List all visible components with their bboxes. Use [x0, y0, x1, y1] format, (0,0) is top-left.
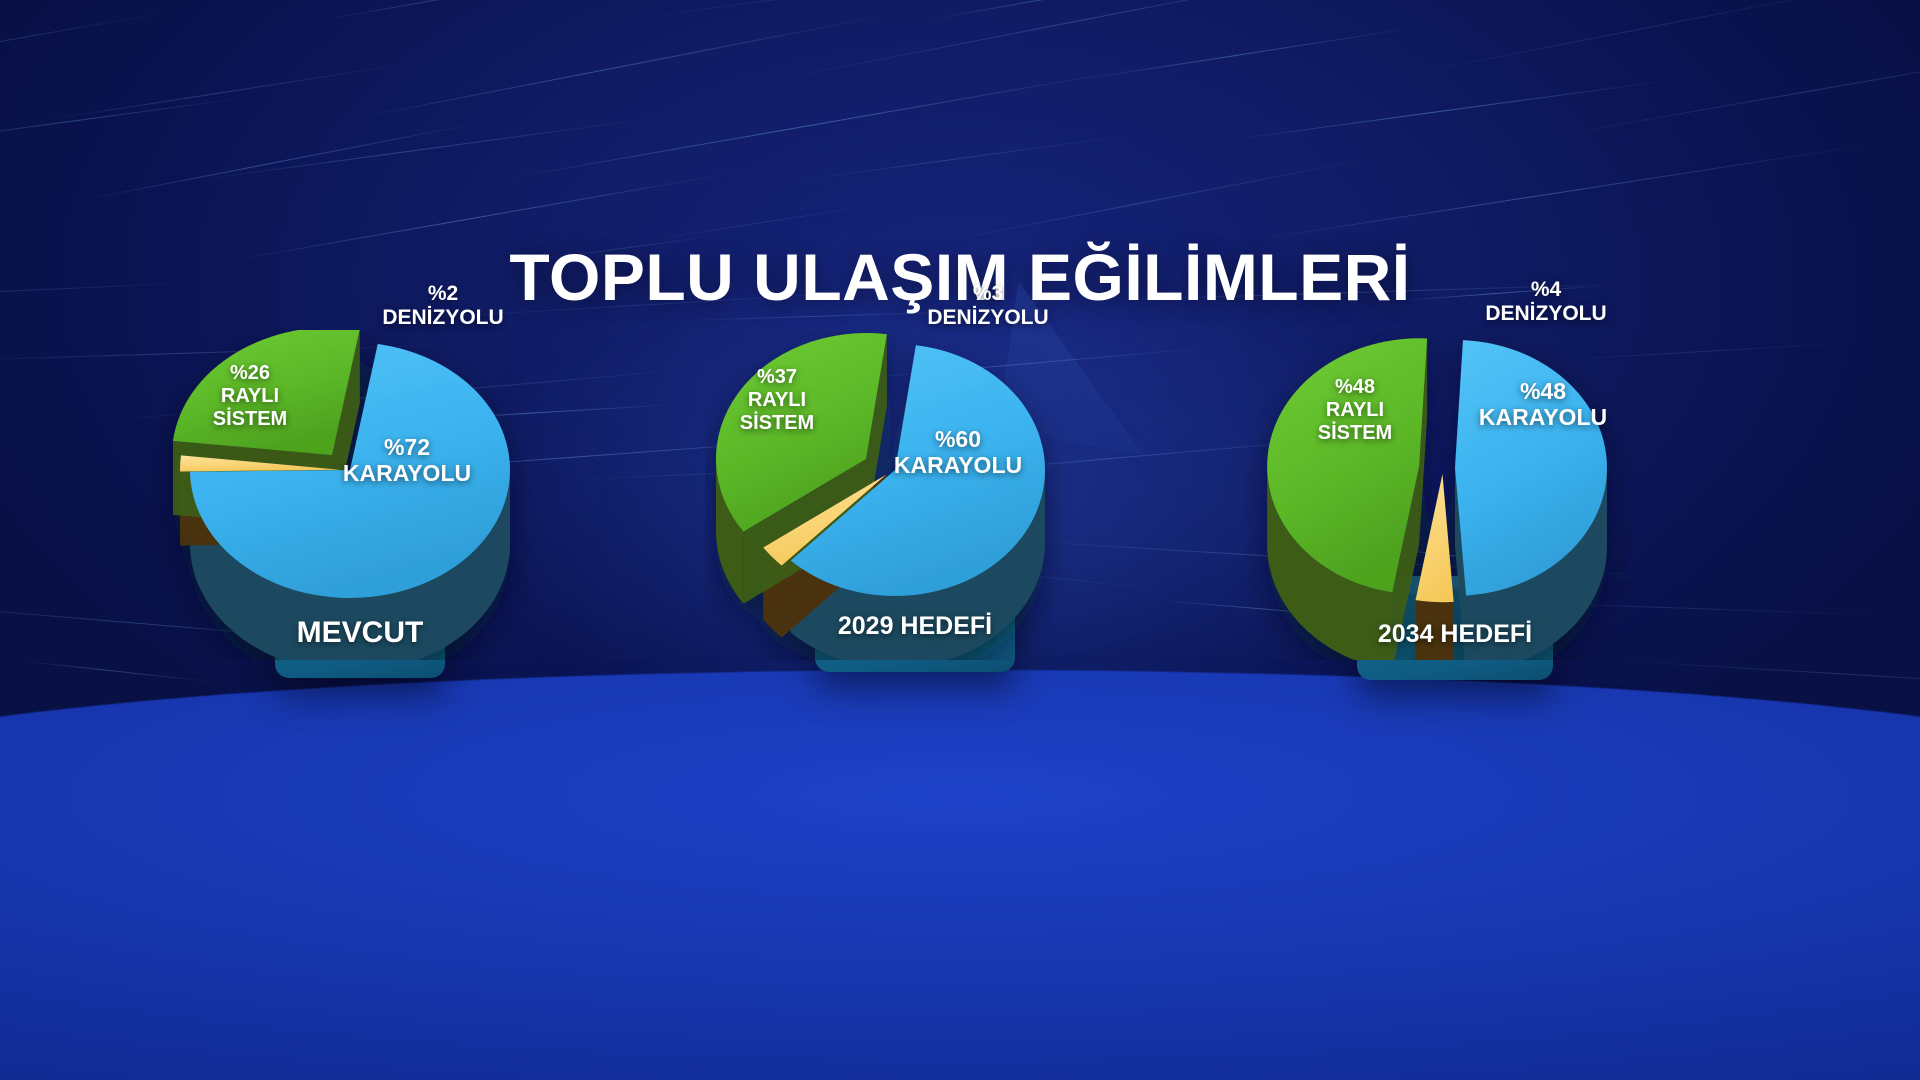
slice-label-karayolu-2029: %60KARAYOLU — [867, 426, 1049, 478]
slice-label-denizyolu-2034: %4DENİZYOLU — [1441, 278, 1651, 326]
slice-percent: %72 — [322, 434, 492, 460]
slice-percent: %4 — [1441, 278, 1651, 302]
slice-percent: %60 — [867, 426, 1049, 452]
slice-name: SİSTEM — [1289, 422, 1421, 445]
slice-name: KARAYOLU — [322, 460, 492, 486]
slice-name: RAYLI — [1289, 399, 1421, 422]
slice-label-rayli-mevcut: %26RAYLISİSTEM — [184, 362, 316, 430]
slice-name: DENİZYOLU — [338, 306, 548, 330]
slice-label-denizyolu-mevcut: %2DENİZYOLU — [338, 282, 548, 330]
pedestal-label-2034: 2034 HEDEFİ — [1245, 620, 1665, 649]
slice-label-rayli-2034: %48RAYLISİSTEM — [1289, 376, 1421, 444]
slice-name: KARAYOLU — [867, 452, 1049, 478]
slice-name: SİSTEM — [711, 412, 843, 435]
slice-name: SİSTEM — [184, 408, 316, 431]
slice-name: DENİZYOLU — [883, 306, 1093, 330]
pedestal-label-mevcut: MEVCUT — [150, 616, 570, 650]
slice-label-rayli-2029: %37RAYLISİSTEM — [711, 366, 843, 434]
slice-name: RAYLI — [711, 389, 843, 412]
infographic-stage: TOPLU ULAŞIM EĞİLİMLERİ MEVCUT %2DENİZYO… — [0, 0, 1920, 1080]
slice-label-denizyolu-2029: %3DENİZYOLU — [883, 282, 1093, 330]
slice-name: KARAYOLU — [1463, 404, 1623, 430]
slice-name: RAYLI — [184, 385, 316, 408]
slice-percent: %48 — [1463, 378, 1623, 404]
slice-label-karayolu-2034: %48KARAYOLU — [1463, 378, 1623, 430]
pie-chart-collection: MEVCUT %2DENİZYOLU%26RAYLISİSTEM%72KARAY… — [0, 0, 1920, 1080]
slice-label-karayolu-mevcut: %72KARAYOLU — [322, 434, 492, 486]
slice-name: DENİZYOLU — [1441, 302, 1651, 326]
slice-percent: %37 — [711, 366, 843, 389]
pedestal-label-2029: 2029 HEDEFİ — [705, 612, 1125, 641]
slice-percent: %26 — [184, 362, 316, 385]
slice-percent: %48 — [1289, 376, 1421, 399]
slice-percent: %3 — [883, 282, 1093, 306]
slice-percent: %2 — [338, 282, 548, 306]
